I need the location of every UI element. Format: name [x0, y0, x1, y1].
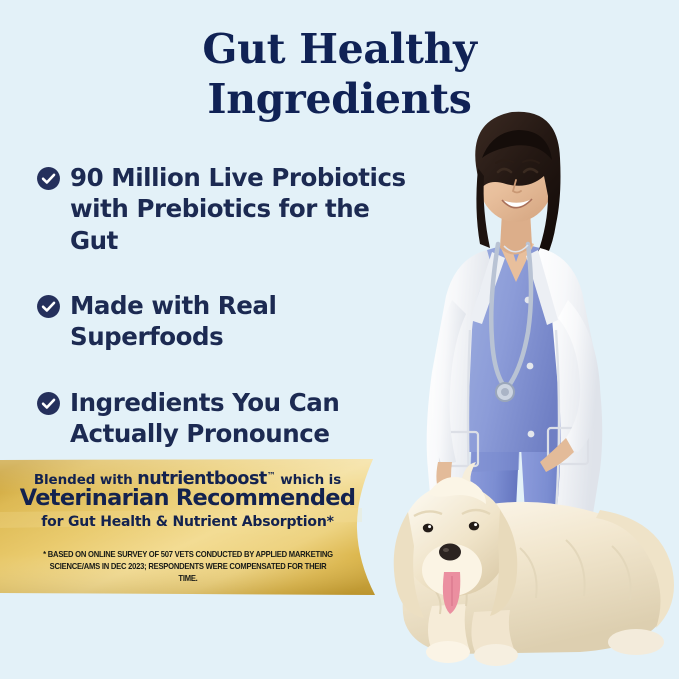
banner-headline: Veterinarian Recommended	[0, 485, 375, 511]
page-title-line-2: Ingredients	[0, 74, 679, 124]
benefit-line-1: Ingredients You Can	[70, 388, 339, 417]
benefit-line-2: with Prebiotics for the Gut	[70, 194, 369, 254]
benefit-text: 90 Million Live Probiotics with Prebioti…	[70, 162, 425, 256]
benefit-line-2: Actually Pronounce	[70, 419, 330, 448]
check-circle-icon	[36, 391, 61, 416]
check-circle-icon	[36, 294, 61, 319]
trademark-symbol: ™	[267, 472, 276, 482]
check-circle-icon	[36, 166, 61, 191]
benefit-text: Ingredients You Can Actually Pronounce	[70, 387, 339, 450]
list-item: Ingredients You Can Actually Pronounce	[36, 387, 456, 450]
promo-image-canvas: Gut Healthy Ingredients 90 Million Live …	[0, 0, 679, 679]
benefits-list: 90 Million Live Probiotics with Prebioti…	[36, 162, 456, 450]
benefit-text: Made with Real Superfoods	[70, 290, 425, 353]
benefit-line-1: Made with Real Superfoods	[70, 291, 276, 351]
vet-recommended-banner: Blended with nutrientboost™ which is Vet…	[0, 452, 400, 604]
benefit-line-1: 90 Million Live Probiotics	[70, 163, 406, 192]
banner-subline: for Gut Health & Nutrient Absorption*	[0, 514, 375, 530]
page-title: Gut Healthy Ingredients	[0, 24, 679, 124]
banner-text-block: Blended with nutrientboost™ which is Vet…	[0, 452, 375, 604]
page-title-line-1: Gut Healthy	[0, 24, 679, 74]
banner-disclaimer: * BASED ON ONLINE SURVEY OF 507 VETS CON…	[39, 549, 337, 585]
list-item: 90 Million Live Probiotics with Prebioti…	[36, 162, 456, 256]
list-item: Made with Real Superfoods	[36, 290, 456, 353]
